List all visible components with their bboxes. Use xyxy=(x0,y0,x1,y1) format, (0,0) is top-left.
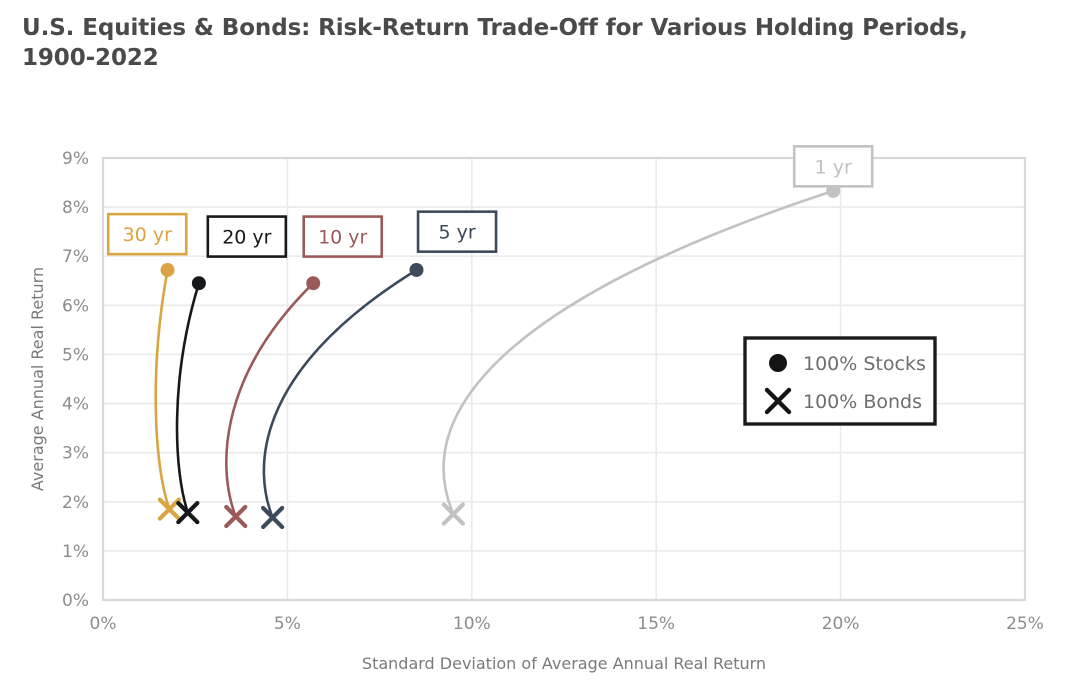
legend-label: 100% Bonds xyxy=(803,391,922,413)
y-tick-label: 2% xyxy=(62,493,89,513)
stocks-marker-20-yr xyxy=(192,276,206,290)
stocks-marker-30-yr xyxy=(161,263,175,277)
x-tick-label: 0% xyxy=(90,614,117,634)
y-axis-ticks: 0%1%2%3%4%5%6%7%8%9% xyxy=(62,149,89,611)
y-tick-label: 9% xyxy=(62,149,89,169)
series-label-text: 20 yr xyxy=(222,227,271,249)
x-tick-label: 25% xyxy=(1006,614,1044,634)
y-tick-label: 5% xyxy=(62,345,89,365)
stocks-marker-10-yr xyxy=(306,276,320,290)
y-tick-label: 6% xyxy=(62,296,89,316)
y-tick-label: 1% xyxy=(62,542,89,562)
x-tick-label: 5% xyxy=(274,614,301,634)
series-label-text: 30 yr xyxy=(123,224,172,246)
stocks-marker-5-yr xyxy=(409,263,423,277)
series-label-5-yr[interactable]: 5 yr xyxy=(418,212,496,252)
series-label-20-yr[interactable]: 20 yr xyxy=(208,217,286,257)
series-label-text: 10 yr xyxy=(318,227,367,249)
chart-legend[interactable]: 100% Stocks100% Bonds xyxy=(745,338,935,424)
series-label-text: 5 yr xyxy=(438,222,475,244)
x-axis-title: Standard Deviation of Average Annual Rea… xyxy=(362,654,766,673)
legend-label: 100% Stocks xyxy=(803,353,926,375)
series-label-10-yr[interactable]: 10 yr xyxy=(304,217,382,257)
y-tick-label: 3% xyxy=(62,444,89,464)
x-tick-label: 20% xyxy=(822,614,860,634)
y-tick-label: 8% xyxy=(62,198,89,218)
chart-canvas: 0%1%2%3%4%5%6%7%8%9% 0%5%10%15%20%25% 30… xyxy=(0,0,1080,698)
series-curve-10-yr xyxy=(226,283,313,516)
x-tick-label: 15% xyxy=(637,614,675,634)
series-labels: 30 yr20 yr10 yr5 yr1 yr xyxy=(108,146,872,256)
series-label-30-yr[interactable]: 30 yr xyxy=(108,214,186,254)
x-tick-label: 10% xyxy=(453,614,491,634)
legend-circle-icon xyxy=(769,354,787,372)
series-curve-20-yr xyxy=(177,283,199,512)
series-label-1-yr[interactable]: 1 yr xyxy=(794,146,872,186)
series-label-text: 1 yr xyxy=(815,156,852,178)
y-tick-label: 0% xyxy=(62,591,89,611)
y-tick-label: 4% xyxy=(62,395,89,415)
x-axis-ticks: 0%5%10%15%20%25% xyxy=(90,614,1044,634)
risk-return-scatter-chart: 0%1%2%3%4%5%6%7%8%9% 0%5%10%15%20%25% 30… xyxy=(0,0,1080,698)
y-tick-label: 7% xyxy=(62,247,89,267)
y-axis-title: Average Annual Real Return xyxy=(28,267,47,491)
